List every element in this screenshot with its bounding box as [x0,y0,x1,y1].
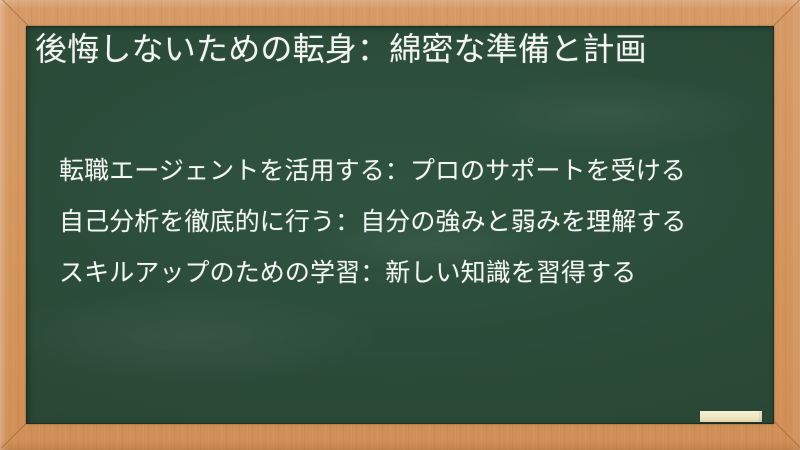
chalkboard-slide: 後悔しないための転身：綿密な準備と計画 転職エージェントを活用する：プロのサポー… [0,0,800,450]
list-item: スキルアップのための学習：新しい知識を習得する [59,253,759,293]
list-item: 転職エージェントを活用する：プロのサポートを受ける [59,151,759,191]
bullet-list: 転職エージェントを活用する：プロのサポートを受ける 自己分析を徹底的に行う：自分… [59,151,759,293]
slide-title: 後悔しないための転身：綿密な準備と計画 [35,27,735,72]
chalkboard-surface: 後悔しないための転身：綿密な準備と計画 転職エージェントを活用する：プロのサポー… [26,26,774,424]
chalk-stick-icon [700,411,762,422]
list-item: 自己分析を徹底的に行う：自分の強みと弱みを理解する [59,202,759,242]
